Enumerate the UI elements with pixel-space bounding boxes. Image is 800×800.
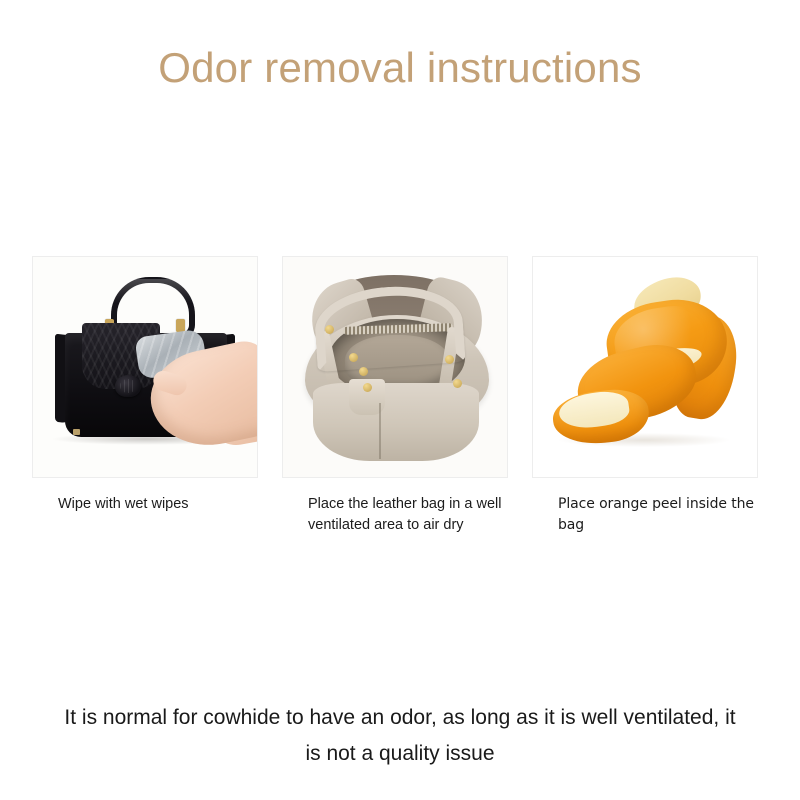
instruction-step-3: Place orange peel inside the bag [532, 256, 758, 536]
open-handbag-illustration [283, 257, 507, 477]
step-3-caption: Place orange peel inside the bag [532, 494, 758, 536]
bag-knot-ornament [115, 375, 141, 397]
step-1-image-wipe-with-wet-wipes [32, 256, 258, 478]
bag-gold-stud [363, 383, 372, 392]
handbag-wiping-illustration [33, 257, 257, 477]
bag-gold-stud [359, 367, 368, 376]
instruction-step-1: Wipe with wet wipes [32, 256, 258, 536]
step-2-image-air-dry-bag [282, 256, 508, 478]
page-title: Odor removal instructions [0, 44, 800, 92]
bag-front-seam [379, 403, 381, 459]
step-3-image-orange-peel [532, 256, 758, 478]
bag-foot-left [73, 429, 80, 435]
bag-gold-stud [349, 353, 358, 362]
instruction-step-2: Place the leather bag in a well ventilat… [282, 256, 508, 536]
bag-gold-stud [445, 355, 454, 364]
bag-gold-stud [453, 379, 462, 388]
footer-note: It is normal for cowhide to have an odor… [60, 700, 740, 772]
orange-peel-illustration [533, 257, 757, 477]
step-1-caption: Wipe with wet wipes [32, 494, 258, 515]
bag-front-panel [313, 383, 479, 461]
step-2-caption: Place the leather bag in a well ventilat… [282, 494, 508, 536]
instruction-steps-row: Wipe with wet wipes [32, 256, 758, 536]
bag-gold-stud [325, 325, 334, 334]
